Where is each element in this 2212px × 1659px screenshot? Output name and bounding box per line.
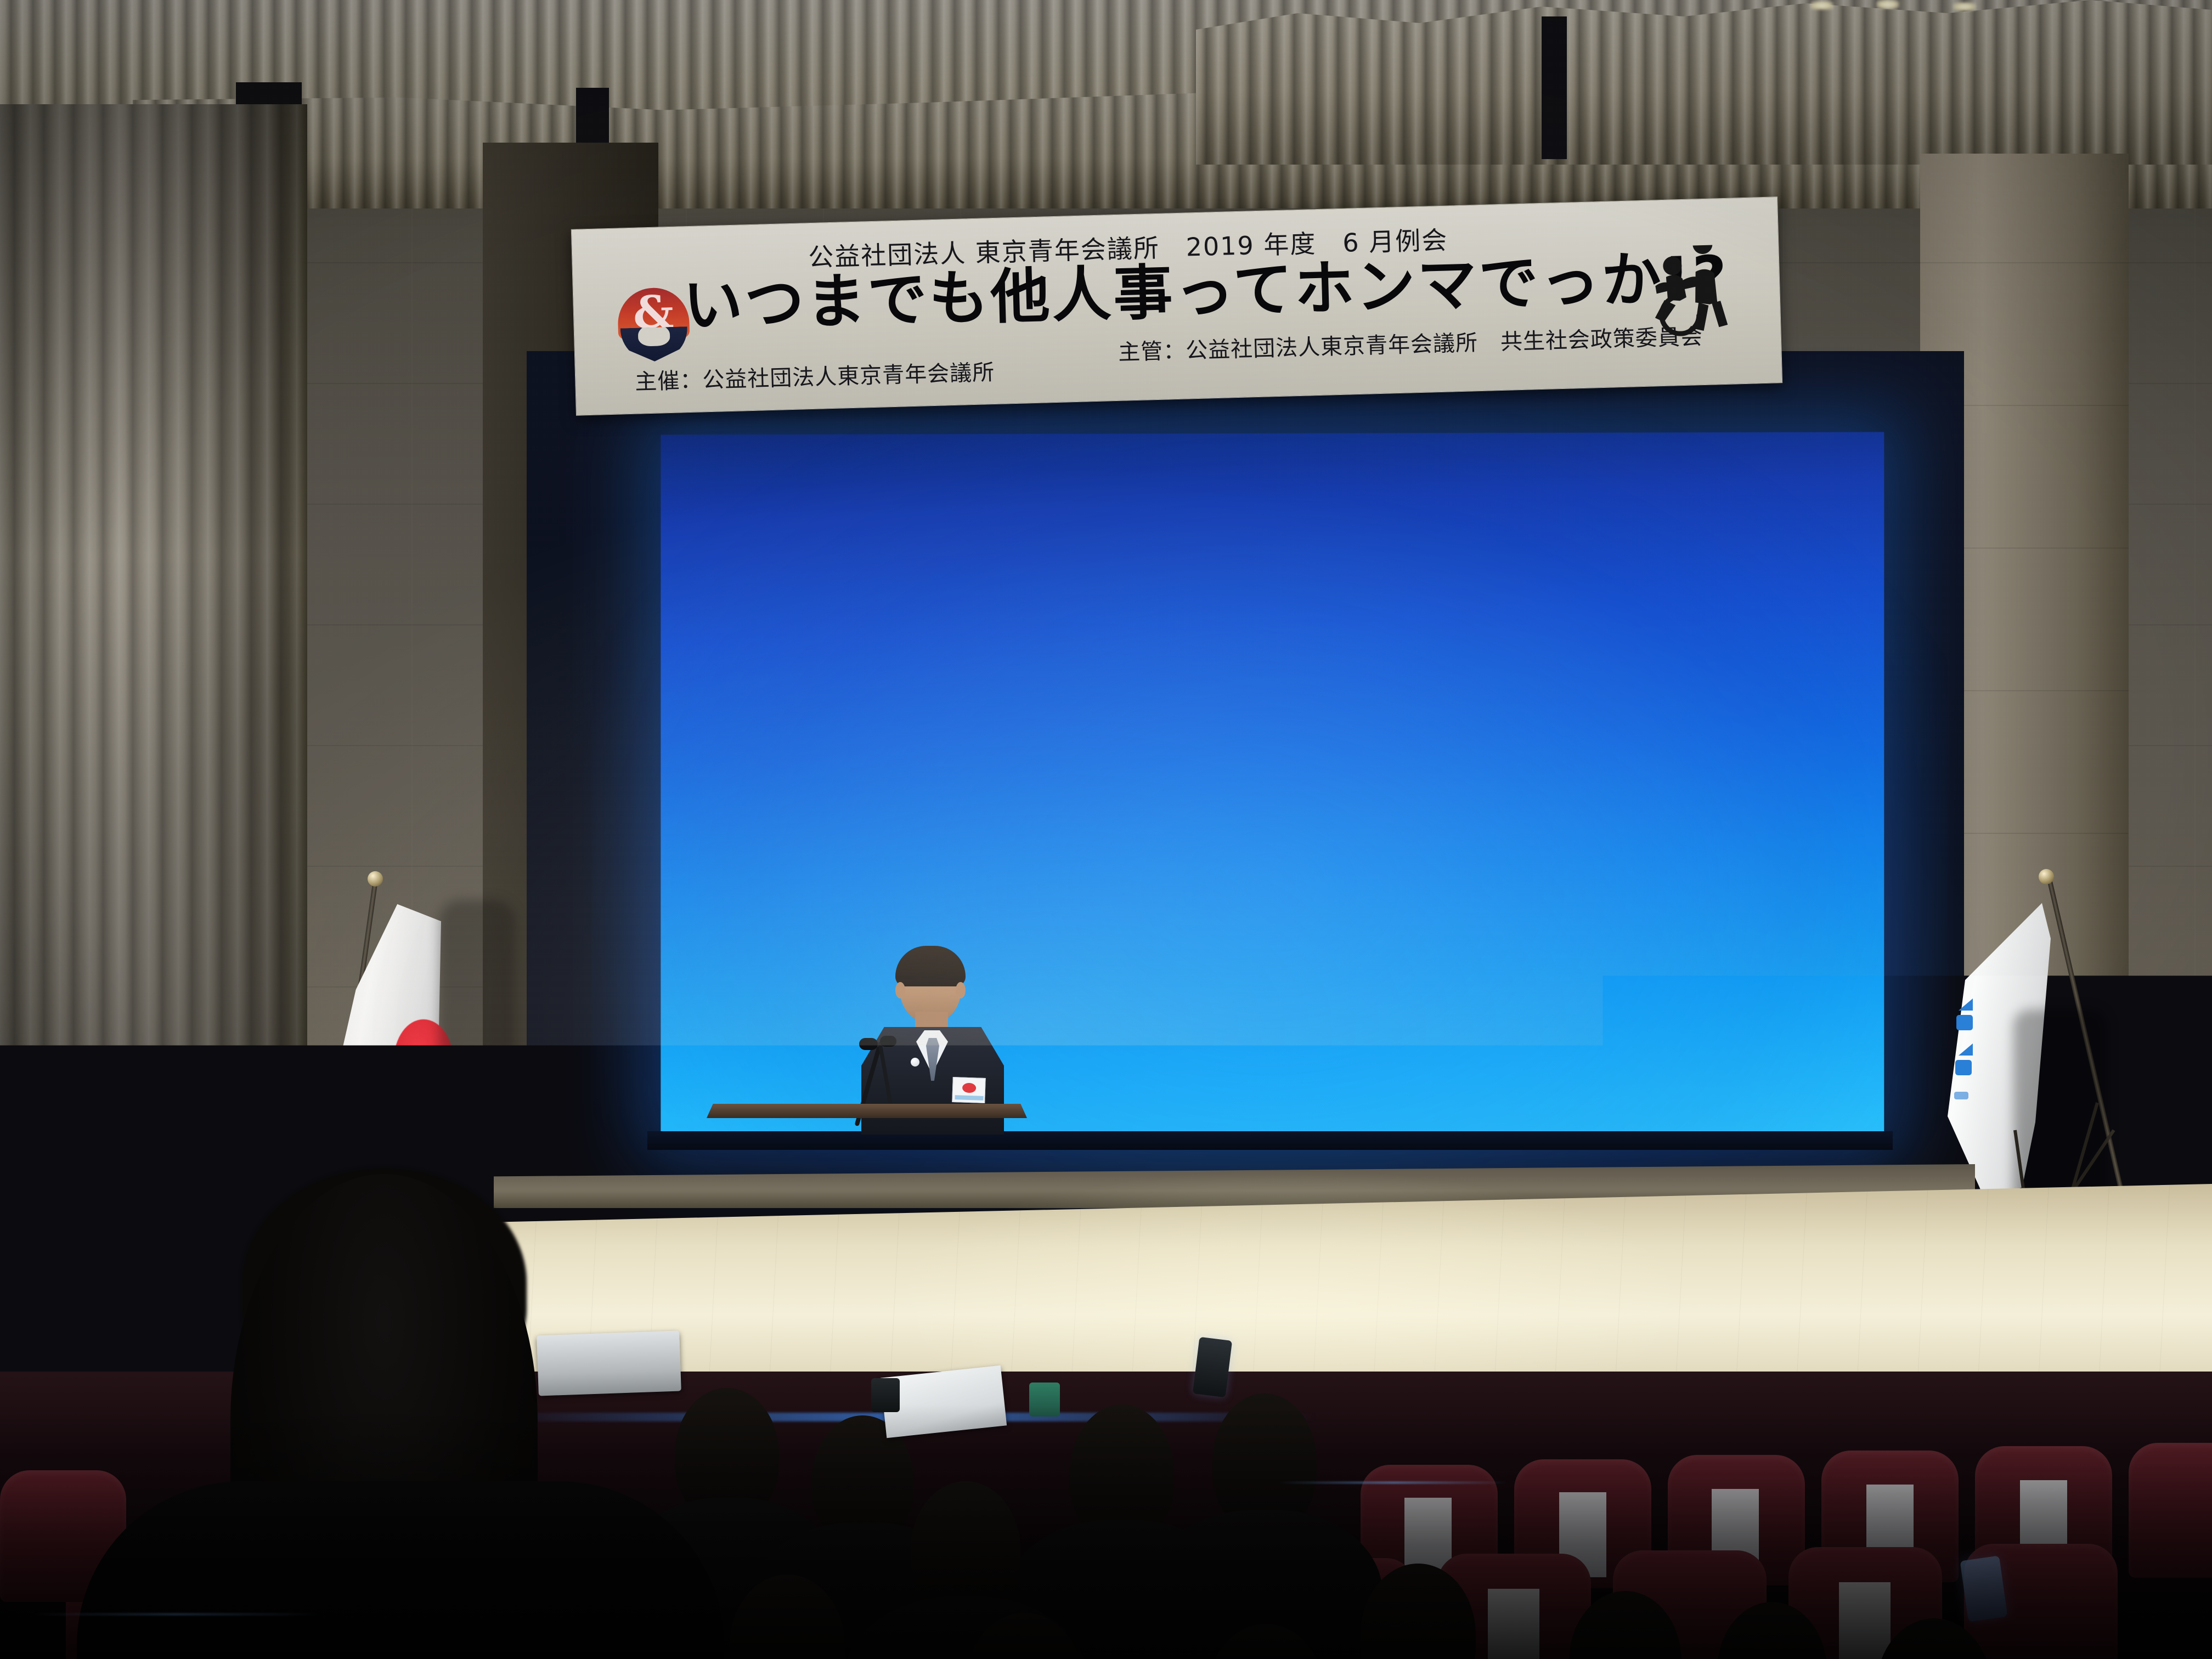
auditorium-photo: & 公益社団法人 東京青年会議所 2019 年度 6 月例会 いつまでも他人事っ… bbox=[0, 0, 2212, 1659]
photo-vignette bbox=[0, 0, 2212, 1659]
